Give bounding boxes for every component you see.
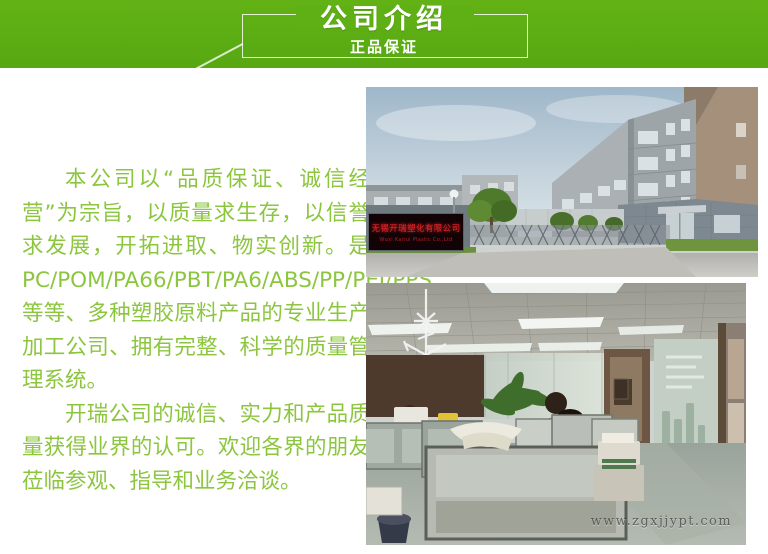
led-sign-english-text: Wuxi Kairui Plastic Co.,Ltd xyxy=(379,237,452,243)
factory-exterior-photo: 无锡开瑞塑化有限公司 Wuxi Kairui Plastic Co.,Ltd xyxy=(366,87,758,277)
banner-decoration: 公司介绍 正品保证 xyxy=(0,0,768,68)
company-introduction-text: 本公司以“品质保证、诚信经营”为宗旨，以质量求生存，以信誉求发展，开拓进取、物实… xyxy=(22,163,370,498)
office-interior-photo: www.zgxjjypt.com xyxy=(366,283,746,545)
led-sign-chinese-text: 无锡开瑞塑化有限公司 xyxy=(371,222,460,234)
page-subtitle: 正品保证 xyxy=(0,37,768,57)
site-watermark: www.zgxjjypt.com xyxy=(591,514,732,529)
intro-paragraph-2: 开瑞公司的诚信、实力和产品质量获得业界的认可。欢迎各界的朋友莅临参观、指导和业务… xyxy=(22,398,370,499)
page-header-banner: 公司介绍 正品保证 xyxy=(0,0,768,68)
led-display-sign: 无锡开瑞塑化有限公司 Wuxi Kairui Plastic Co.,Ltd xyxy=(368,213,464,251)
office-photo-artwork xyxy=(366,283,746,545)
intro-paragraph-1: 本公司以“品质保证、诚信经营”为宗旨，以质量求生存，以信誉求发展，开拓进取、物实… xyxy=(22,163,370,398)
page-title: 公司介绍 xyxy=(0,4,768,36)
